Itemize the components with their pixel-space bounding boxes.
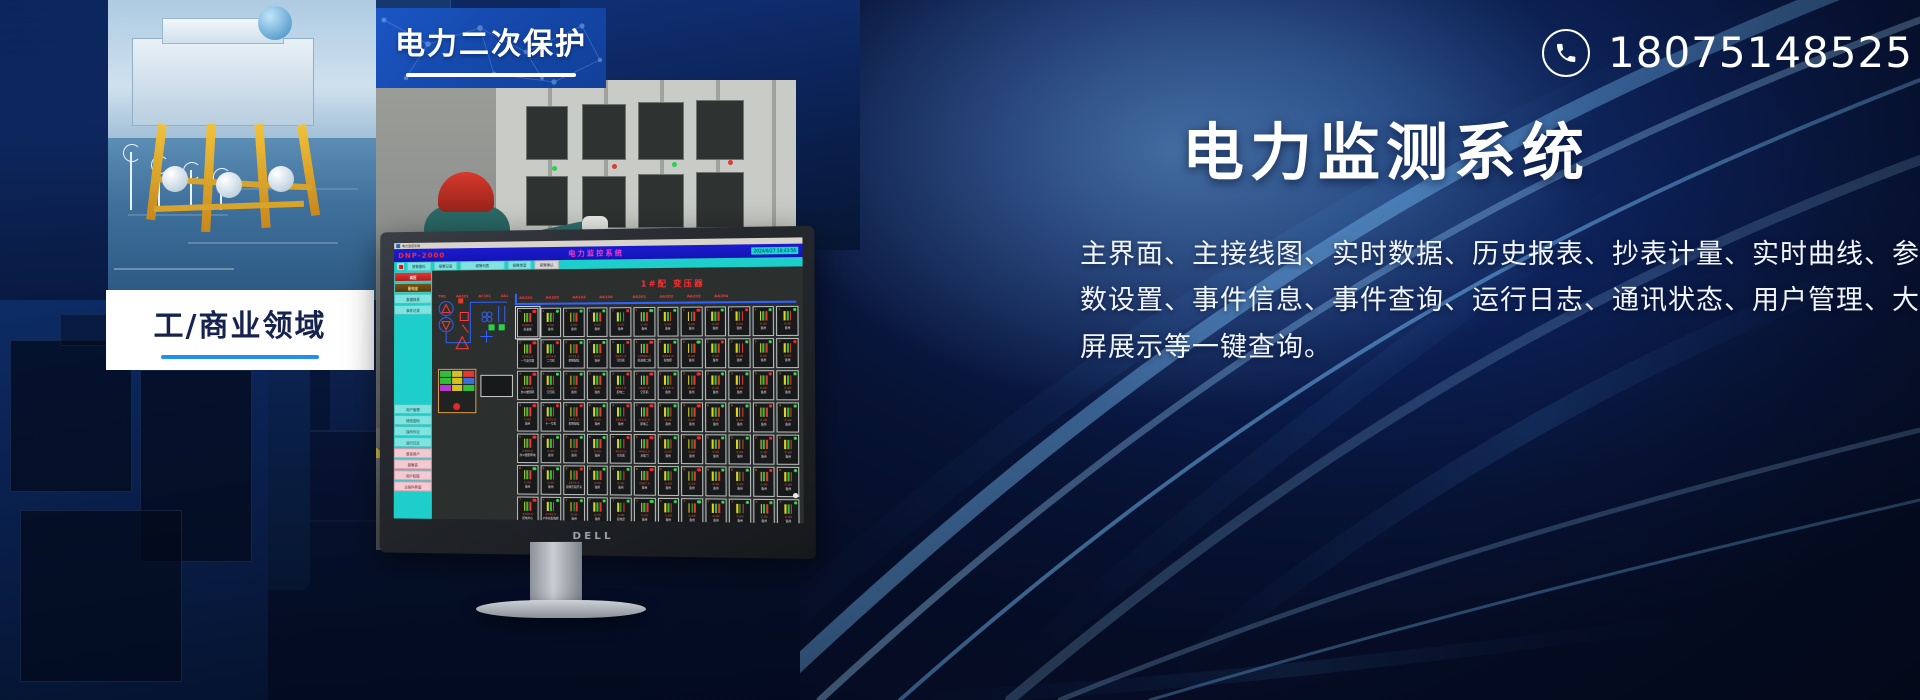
- meter-cell[interactable]: 30.00备用: [777, 370, 799, 400]
- status-led-icon: [556, 341, 559, 344]
- phase-bars-icon: [547, 502, 554, 511]
- monitor-base: [476, 600, 646, 618]
- label-power-secondary-protection: 电力二次保护: [376, 8, 606, 88]
- meter-cell[interactable]: 30.00备用: [729, 370, 751, 400]
- phase-bars-icon: [784, 311, 792, 320]
- feeder-label: AA102: [546, 296, 559, 300]
- meter-cell[interactable]: 60.00备用: [657, 466, 679, 496]
- meter-name: 配电二: [617, 390, 625, 394]
- monitor-stand: [530, 542, 582, 604]
- toolbar-item-alarm-list[interactable]: 报警列表: [460, 261, 504, 271]
- meter-cell[interactable]: 60.00备用: [753, 467, 775, 497]
- phone-number: 18075148525: [1608, 28, 1913, 77]
- meter-name: 备用: [641, 326, 646, 330]
- banner-content: 18075148525 电力监测系统 主界面、主接线图、实时数据、历史报表、抄表…: [1060, 0, 1920, 700]
- phase-bars-icon: [664, 503, 672, 512]
- meter-cell-index: 5: [542, 435, 544, 439]
- sidebar-item-user-management[interactable]: 用户管理: [394, 404, 432, 414]
- meter-name: 空压机: [547, 390, 555, 394]
- status-led-icon: [745, 340, 748, 343]
- meter-cell[interactable]: 60.00备用: [610, 466, 632, 496]
- meter-name: 备用: [737, 422, 743, 426]
- meter-cell[interactable]: 50.00备用: [540, 434, 561, 464]
- meter-cell-index: 6: [542, 466, 544, 470]
- meter-cell-index: 2: [612, 340, 614, 344]
- meter-name: 备用: [595, 485, 600, 489]
- meter-cell[interactable]: 210500.1总进线二路: [633, 339, 655, 369]
- meter-cell[interactable]: 60.00备用: [729, 466, 751, 496]
- meter-name: 备用: [618, 327, 623, 331]
- feeder-label: AA201: [632, 295, 646, 299]
- meter-cell[interactable]: 54020.0空压机: [610, 434, 631, 464]
- phase-bars-icon: [570, 502, 577, 511]
- meter-name: 备用: [785, 487, 791, 491]
- phase-bars-icon: [664, 407, 672, 416]
- status-led-icon: [673, 404, 676, 407]
- status-led-icon: [697, 341, 700, 344]
- status-led-icon: [697, 309, 700, 312]
- meter-cell[interactable]: 33627.6配电二: [610, 371, 631, 401]
- status-led-icon: [650, 341, 653, 344]
- phase-bars-icon: [594, 407, 601, 416]
- phase-bars-icon: [524, 470, 531, 479]
- status-led-icon: [745, 469, 748, 472]
- meter-cell[interactable]: 54463.0水泵门: [634, 434, 656, 464]
- meter-cell-index: 2: [589, 340, 591, 344]
- feeder-label: AA101: [519, 296, 532, 300]
- meter-cell-index: 3: [683, 371, 685, 375]
- meter-cell[interactable]: 72740.0户外机配电柜: [540, 497, 561, 524]
- status-led-icon: [556, 436, 559, 439]
- meter-cell-index: 5: [683, 435, 685, 439]
- status-led-icon: [533, 341, 536, 344]
- feeder-label: AA202: [660, 295, 674, 299]
- meter-cell[interactable]: 62407.0备用: [634, 466, 656, 496]
- toolbar-item-alarm-type[interactable]: 报警类型: [508, 260, 532, 269]
- meter-cell[interactable]: 52490.0办公楼照明电: [517, 434, 538, 464]
- meter-name: 备用: [595, 453, 600, 457]
- meter-name: 备用: [737, 518, 743, 522]
- meter-name: 备用: [642, 517, 647, 521]
- meter-cell[interactable]: 40.00备用: [587, 402, 608, 432]
- status-led-icon: [745, 404, 748, 407]
- meter-name: 备用: [525, 421, 530, 425]
- meter-cell[interactable]: 20.00备用: [777, 338, 799, 368]
- control-panel-widget: [438, 369, 476, 413]
- meter-cell-index: 2: [519, 340, 521, 344]
- status-led-icon: [745, 308, 748, 311]
- toolbar-item-alarm-icons[interactable]: 报警图标: [407, 262, 431, 271]
- meter-cell[interactable]: 16290.0总进线: [517, 308, 538, 337]
- meter-cell-index: 7: [612, 498, 614, 502]
- meter-cell[interactable]: 30.00备用: [705, 370, 727, 400]
- phase-bars-icon: [735, 311, 743, 320]
- phase-bars-icon: [760, 375, 768, 384]
- meter-cell[interactable]: 10.00备用: [633, 307, 655, 337]
- meter-name: 备用: [665, 454, 670, 458]
- meter-cell[interactable]: 42472.0照明配电: [563, 402, 584, 432]
- status-led-icon: [697, 500, 700, 503]
- phase-bars-icon: [547, 470, 554, 479]
- status-led-icon: [603, 468, 606, 471]
- phase-bars-icon: [759, 311, 767, 320]
- meter-cell-index: 4: [565, 403, 567, 407]
- scada-brand: DNP-2000: [398, 251, 445, 260]
- scada-sidebar[interactable]: 高压 配电室 数据报表 事件记录 用户管理: [394, 271, 432, 519]
- feeder-label: AA204: [714, 294, 728, 298]
- monitor-brand-logo: DELL: [380, 531, 815, 542]
- meter-cell[interactable]: 10.00备用: [776, 306, 798, 336]
- status-led-icon: [556, 404, 559, 407]
- status-led-icon: [697, 404, 700, 407]
- meter-cell[interactable]: 40.00备用: [517, 402, 538, 431]
- sidebar-item-distribution-room[interactable]: 配电室: [394, 283, 432, 293]
- phase-bars-icon: [593, 344, 600, 353]
- meter-cell[interactable]: 70.00备用: [657, 498, 679, 523]
- meter-cell[interactable]: 30.00空压机: [540, 371, 561, 400]
- meter-name: 备用: [571, 390, 576, 394]
- meter-cell-index: 5: [589, 435, 591, 439]
- phase-bars-icon: [524, 407, 531, 416]
- meter-cell[interactable]: 40.00备用: [753, 402, 775, 432]
- meter-cell-index: 6: [779, 468, 781, 472]
- meter-name: 办公楼照明电: [520, 453, 536, 457]
- sidebar-item-data-report[interactable]: 数据报表: [394, 294, 432, 304]
- meter-cell[interactable]: 40.00备用: [729, 402, 751, 432]
- phase-bars-icon: [640, 344, 647, 353]
- meter-cell-index: 4: [612, 403, 614, 407]
- phase-bars-icon: [688, 312, 696, 321]
- meter-cell-index: 7: [660, 499, 662, 503]
- phase-bars-icon: [688, 439, 696, 448]
- phase-bars-icon: [712, 472, 720, 481]
- meter-cell[interactable]: 60.00备用: [540, 465, 561, 495]
- phase-bars-icon: [593, 312, 600, 321]
- meter-name: 备用: [571, 516, 576, 520]
- phase-bars-icon: [785, 504, 793, 513]
- phase-bars-icon: [712, 439, 720, 448]
- status-led-icon: [794, 501, 797, 504]
- meter-cell[interactable]: 74200.0配电中心: [517, 497, 538, 524]
- phase-bars-icon: [664, 344, 672, 353]
- transformer-single-line-diagram: [436, 292, 513, 365]
- phase-bars-icon: [760, 408, 768, 417]
- sidebar-item-main-console[interactable]: 主操作界面: [394, 481, 432, 491]
- meter-cell[interactable]: 10.00备用: [752, 306, 774, 336]
- bus-label-aa1: AA1: [501, 294, 509, 298]
- phase-bars-icon: [736, 472, 744, 481]
- alarm-indicator-button[interactable]: [397, 263, 404, 270]
- sidebar-item-alarm-table[interactable]: 报警表: [394, 459, 432, 469]
- sidebar-item-event-log[interactable]: 事件记录: [394, 305, 432, 315]
- meter-cell-index: 7: [707, 499, 709, 503]
- status-led-icon: [745, 372, 748, 375]
- meter-cell-index: 2: [542, 340, 544, 344]
- sidebar-item-change-password[interactable]: 修改密码: [394, 415, 432, 425]
- meter-name: 总进线二路: [637, 358, 651, 362]
- meter-cell[interactable]: 42342.0配电三: [634, 402, 656, 432]
- meter-cell[interactable]: 60.00备用: [517, 465, 538, 495]
- status-led-icon: [533, 310, 536, 313]
- meter-cell-index: 3: [612, 372, 614, 376]
- contact-phone[interactable]: 18075148525: [1542, 28, 1913, 77]
- meter-name: 备用: [689, 486, 694, 490]
- meter-cell[interactable]: 24733.0照明配电: [563, 339, 584, 369]
- status-led-icon: [626, 341, 629, 344]
- meter-cell[interactable]: 50.00备用: [777, 435, 799, 465]
- meter-name: 备用: [737, 454, 743, 458]
- sidebar-item-high-voltage[interactable]: 高压: [394, 272, 432, 282]
- meter-cell-index: 3: [636, 372, 638, 376]
- phase-bars-icon: [547, 344, 554, 353]
- meter-cell[interactable]: 10.00备用: [540, 308, 561, 338]
- meter-cell-index: 6: [519, 466, 521, 470]
- scada-application: 电力监控系统 DNP-2000 电力监控系统 2024/6/27 18:43:5…: [394, 237, 804, 523]
- toolbar-item-alarm-ack[interactable]: 报警确认: [535, 260, 559, 269]
- meter-cell-index: 6: [636, 467, 638, 471]
- label-text: 电力二次保护: [395, 19, 587, 63]
- meter-cell[interactable]: 60.00备用: [705, 466, 727, 496]
- meter-cell[interactable]: 50.00备用: [705, 434, 727, 464]
- phase-bars-icon: [524, 439, 531, 448]
- meter-cell-index: 6: [707, 467, 709, 471]
- meter-cell[interactable]: 40.00备用: [657, 402, 679, 432]
- phase-bars-icon: [641, 407, 649, 416]
- status-led-icon: [579, 310, 582, 313]
- phase-bars-icon: [784, 472, 792, 481]
- phase-bars-icon: [641, 471, 649, 480]
- meter-cell-index: 1: [542, 309, 544, 313]
- phase-bars-icon: [570, 470, 577, 479]
- meter-cell[interactable]: 70.00备用: [587, 497, 608, 523]
- meter-name: 备用: [737, 486, 743, 490]
- meter-cell[interactable]: 62874.0总降压站开关: [563, 465, 584, 495]
- meter-cell[interactable]: 70.00备用: [753, 499, 775, 524]
- meter-cell[interactable]: 22894.0配电柜: [657, 339, 679, 369]
- meter-name: 备用: [618, 485, 623, 489]
- meter-cell-index: 1: [612, 308, 614, 312]
- meter-name: 备用: [713, 422, 719, 426]
- status-led-icon: [769, 372, 772, 375]
- phase-bars-icon: [570, 344, 577, 353]
- meter-cell-index: 6: [683, 467, 685, 471]
- status-led-icon: [770, 501, 773, 504]
- meter-cell[interactable]: 20.00备用: [681, 338, 703, 368]
- meter-cell[interactable]: 50.00备用: [681, 434, 703, 464]
- scada-body: 高压 配电室 数据报表 事件记录 用户管理: [394, 266, 804, 523]
- toolbar-item-alarm-records[interactable]: 报警记录: [434, 261, 458, 270]
- meter-cell[interactable]: 50.00备用: [563, 434, 584, 464]
- meter-cell[interactable]: 22907.2空压机: [610, 339, 631, 369]
- meter-cell-index: 2: [659, 340, 661, 344]
- meter-name: 备用: [785, 326, 791, 330]
- meter-cell-index: 7: [731, 500, 733, 504]
- meter-cell-index: 5: [731, 435, 733, 439]
- status-led-icon: [673, 436, 676, 439]
- phase-bars-icon: [594, 471, 601, 480]
- meter-cell-index: 1: [683, 308, 685, 312]
- meter-cell[interactable]: 70.00备用: [705, 498, 727, 523]
- meter-cell[interactable]: 10.00备用: [610, 307, 631, 337]
- status-led-icon: [626, 436, 629, 439]
- meter-cell[interactable]: 40.00备用: [681, 402, 703, 432]
- status-led-icon: [579, 404, 582, 407]
- meter-name: 备用: [713, 454, 719, 458]
- phase-bars-icon: [547, 313, 554, 322]
- meter-name: 备用: [595, 422, 600, 426]
- meter-name: 总进线: [524, 327, 532, 331]
- status-led-icon: [721, 340, 724, 343]
- meter-cell-index: 5: [755, 436, 757, 440]
- phase-bars-icon: [524, 502, 531, 511]
- meter-cell-index: 1: [754, 307, 756, 311]
- meter-cell-index: 1: [779, 307, 781, 311]
- meter-cell[interactable]: 30.00备用: [753, 370, 775, 400]
- phase-bars-icon: [570, 407, 577, 416]
- meter-cell-index: 3: [589, 372, 591, 376]
- meter-cell-index: 1: [730, 307, 732, 311]
- meter-cell[interactable]: 70.00备用: [777, 499, 799, 523]
- meter-cell[interactable]: 10.00备用: [681, 307, 703, 337]
- phase-bars-icon: [688, 344, 696, 353]
- meter-cell[interactable]: 34794.0办公楼照明: [517, 371, 538, 400]
- sidebar-item-run-log[interactable]: 运行日志: [394, 437, 432, 447]
- meter-cell[interactable]: 10.00备用: [704, 306, 726, 336]
- phase-bars-icon: [547, 376, 554, 385]
- meter-name: 备用: [713, 326, 719, 330]
- meter-name: 备用: [595, 517, 600, 521]
- meter-cell-index: 2: [779, 339, 781, 343]
- meter-cell[interactable]: 25793.0一号变压器: [517, 339, 538, 368]
- phase-bars-icon: [570, 313, 577, 322]
- meter-cell[interactable]: 20.00备用: [752, 338, 774, 368]
- meter-cell[interactable]: 42720.0十一号机: [540, 402, 561, 432]
- meter-name: 备用: [665, 326, 670, 330]
- meter-cell-index: 2: [636, 340, 638, 344]
- meter-name: 配电三: [640, 422, 648, 426]
- phase-bars-icon: [688, 376, 696, 385]
- meter-name: 十一号机: [545, 421, 556, 425]
- meter-cell[interactable]: 60.00备用: [681, 466, 703, 496]
- meter-cell[interactable]: 50.00备用: [753, 434, 775, 464]
- scada-title: 电力监控系统: [568, 248, 624, 259]
- dell-monitor: 电力监控系统 DNP-2000 电力监控系统 2024/6/27 18:43:5…: [380, 232, 800, 552]
- status-led-icon: [650, 373, 653, 376]
- meter-cell-index: 4: [636, 403, 638, 407]
- status-led-icon: [650, 404, 653, 407]
- app-icon: [396, 244, 400, 248]
- phase-bars-icon: [641, 439, 649, 448]
- meter-cell-index: 4: [659, 403, 661, 407]
- meter-cell[interactable]: 20.00备用: [705, 338, 727, 368]
- meter-cell-index: 2: [565, 340, 567, 344]
- meter-name: 备用: [689, 390, 694, 394]
- meter-cell[interactable]: 70.00备用: [563, 497, 584, 523]
- diagram-title: 1#配 变压器: [641, 278, 705, 290]
- meter-cell-index: 7: [565, 498, 567, 502]
- meter-cell[interactable]: 10.00备用: [728, 306, 750, 336]
- meter-cell[interactable]: 40.00备用: [777, 402, 799, 432]
- meter-name: 备用: [785, 422, 791, 426]
- status-led-icon: [603, 373, 606, 376]
- sidebar-item-login-user[interactable]: 登录用户: [394, 448, 432, 458]
- meter-cell[interactable]: 70.00配电室: [610, 497, 632, 523]
- meter-cell-index: 3: [542, 372, 544, 376]
- meter-cell-index: 1: [519, 309, 521, 313]
- meter-cell[interactable]: 30.00备用: [587, 371, 608, 401]
- meter-cell[interactable]: 10.00备用: [587, 307, 608, 337]
- meter-cell-index: 7: [636, 499, 638, 503]
- status-dot: [453, 403, 460, 410]
- meter-name: 备用: [785, 454, 791, 458]
- bus-label-tm1: TM1: [438, 295, 446, 299]
- meter-cell-index: 3: [519, 372, 521, 376]
- meter-name: 备用: [761, 486, 767, 490]
- meter-name: 备用: [548, 327, 553, 331]
- status-led-icon: [556, 467, 559, 470]
- meter-cell[interactable]: 31730.0备用: [657, 370, 679, 400]
- meter-name: 备用: [689, 358, 694, 362]
- meter-cell[interactable]: 40.00备用: [705, 402, 727, 432]
- meter-name: 配电中心: [522, 516, 533, 520]
- status-led-icon: [769, 308, 772, 311]
- meter-cell[interactable]: 10.00备用: [657, 307, 679, 337]
- meter-cell-index: 4: [519, 403, 521, 407]
- phase-bars-icon: [712, 504, 720, 513]
- meter-cell-index: 1: [707, 308, 709, 312]
- meter-name: 备用: [571, 453, 576, 457]
- phase-bars-icon: [784, 440, 792, 449]
- phase-bars-icon: [664, 471, 672, 480]
- meter-cell[interactable]: 50.00备用: [657, 434, 679, 464]
- meter-cell[interactable]: 33607.5空压机: [633, 370, 655, 400]
- meter-cell[interactable]: 50.00备用: [729, 434, 751, 464]
- status-led-icon: [603, 404, 606, 407]
- meter-cell-index: 4: [542, 403, 544, 407]
- sidebar-item-user-permission[interactable]: 用户权限: [394, 470, 432, 480]
- phase-bars-icon: [688, 407, 696, 416]
- meter-cell[interactable]: 41610.0备用: [610, 402, 631, 432]
- meter-name: 备用: [713, 358, 719, 362]
- monitor-bezel: 电力监控系统 DNP-2000 电力监控系统 2024/6/27 18:43:5…: [380, 226, 816, 559]
- sidebar-item-operation-record[interactable]: 操作作记: [394, 426, 432, 436]
- status-led-icon: [602, 341, 605, 344]
- meter-cell[interactable]: 10.00备用: [563, 308, 584, 338]
- status-led-icon: [673, 372, 676, 375]
- phase-bars-icon: [712, 407, 720, 416]
- phase-bars-icon: [617, 344, 624, 353]
- meter-cell-index: 3: [707, 371, 709, 375]
- meter-cell[interactable]: 20.00备用: [587, 339, 608, 369]
- meter-cell[interactable]: 21874.0二号机: [540, 339, 561, 369]
- phase-bars-icon: [547, 407, 554, 416]
- meter-cell[interactable]: 60.00备用: [587, 465, 608, 495]
- meter-cell[interactable]: 30.00备用: [563, 371, 584, 401]
- meter-cell[interactable]: 70.00备用: [681, 498, 703, 523]
- meter-cell[interactable]: 70.00备用: [729, 499, 751, 524]
- status-led-icon: [721, 404, 724, 407]
- meter-name: 备用: [785, 358, 791, 362]
- meter-cell-index: 2: [707, 339, 709, 343]
- page-title: 电力监测系统: [1182, 102, 1590, 192]
- meter-cell[interactable]: 50.00备用: [587, 434, 608, 464]
- phase-bars-icon: [641, 376, 649, 385]
- meter-cell-index: 3: [659, 371, 661, 375]
- meter-cell[interactable]: 70.00备用: [634, 498, 656, 524]
- meter-cell[interactable]: 20.00备用: [728, 338, 750, 368]
- meter-cell[interactable]: 30.00备用: [681, 370, 703, 400]
- phase-bars-icon: [736, 504, 744, 513]
